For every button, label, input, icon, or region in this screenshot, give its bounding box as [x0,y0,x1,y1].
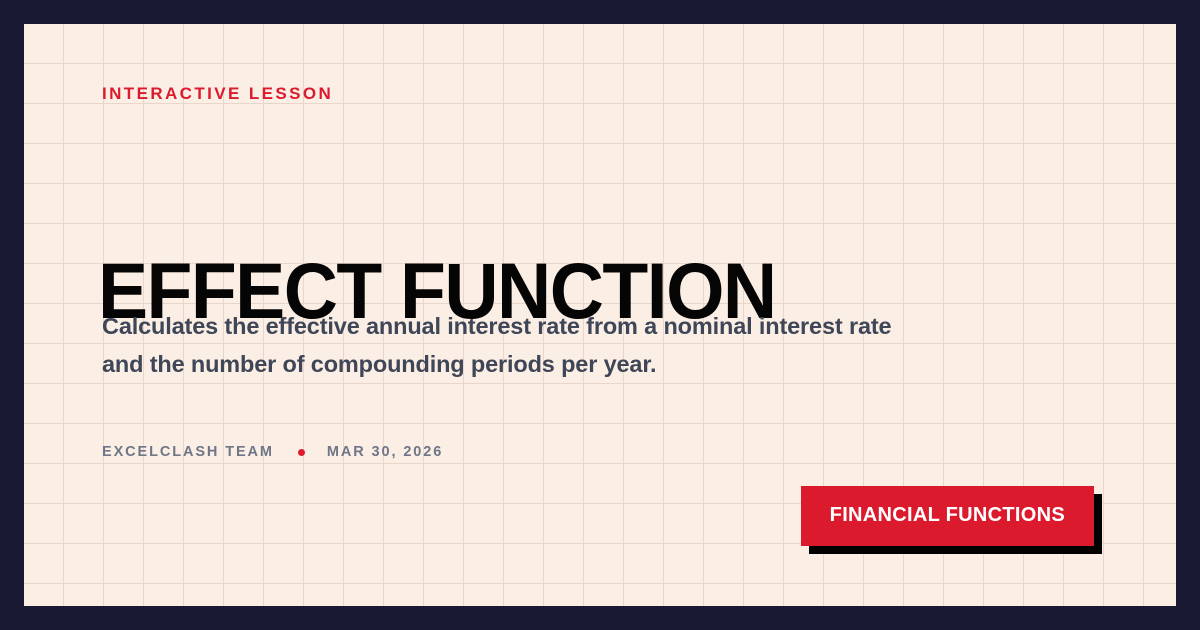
hero-content: INTERACTIVE LESSON EFFECT FUNCTION Calcu… [102,24,1116,606]
description: Calculates the effective annual interest… [102,307,1002,383]
poster-card: INTERACTIVE LESSON EFFECT FUNCTION Calcu… [0,0,1200,630]
category-badge-wrapper: FINANCIAL FUNCTIONS [801,486,1094,546]
description-line-1: Calculates the effective annual interest… [102,307,1002,345]
byline-author: EXCELCLASH TEAM [102,444,274,460]
byline-date: MAR 30, 2026 [327,444,443,460]
grid-canvas: INTERACTIVE LESSON EFFECT FUNCTION Calcu… [24,24,1176,606]
byline: EXCELCLASH TEAM MAR 30, 2026 [102,444,443,460]
category-badge[interactable]: FINANCIAL FUNCTIONS [801,486,1094,546]
eyebrow-label: INTERACTIVE LESSON [102,84,333,104]
dot-separator-icon [298,449,305,456]
description-line-2: and the number of compounding periods pe… [102,345,1002,383]
